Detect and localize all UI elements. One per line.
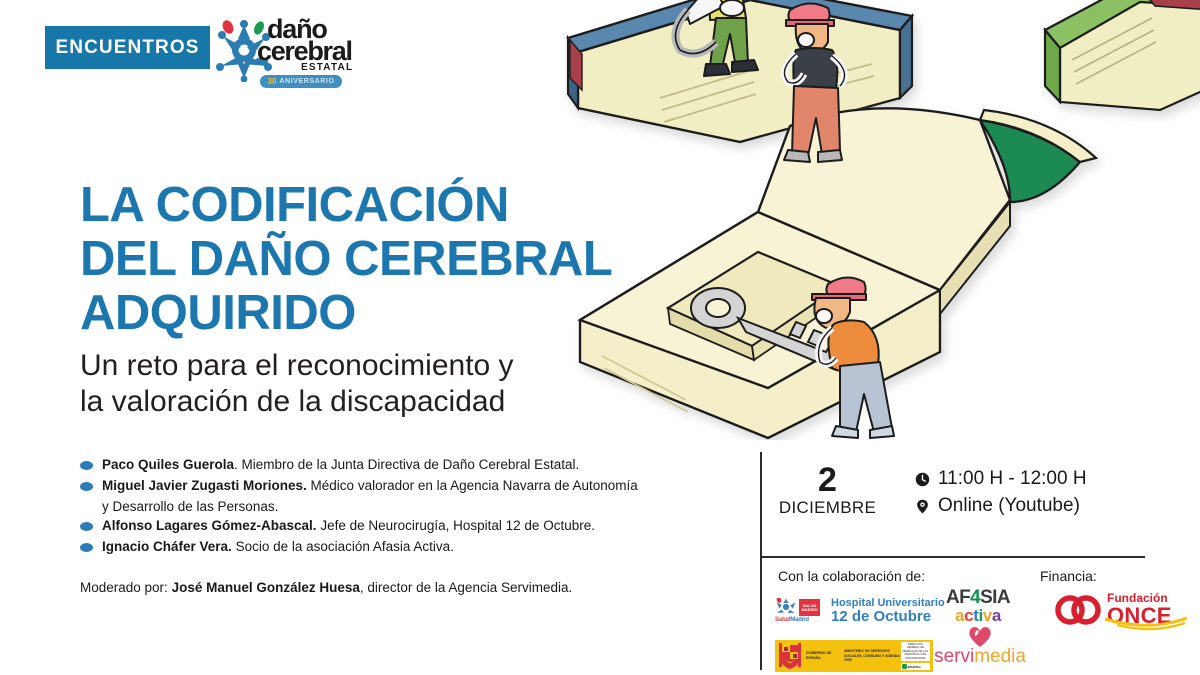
title-line-2: DEL DAÑO CEREBRAL (80, 232, 700, 286)
gobierno-right-block: DIRECCIÓN GENERAL DE DERECHOS DE LAS PER… (901, 642, 930, 670)
moderator-name: José Manuel González Huesa (172, 580, 360, 595)
logo-servimedia: servimedia (930, 625, 1030, 667)
logo-word-cerebral: cerebral (257, 38, 352, 65)
afasia-part-a: AF (946, 587, 970, 608)
speaker-name: Miguel Javier Zugasti Moriones. (102, 478, 307, 493)
subtitle-line-1: Un reto para el reconocimiento y (80, 348, 700, 384)
subtitle-line-2: la valoración de la discapacidad (80, 384, 700, 420)
collaboration-label: Con la colaboración de: (778, 568, 925, 584)
afasia-wordmark: AF4SIA (938, 588, 1018, 607)
vertical-divider (760, 452, 762, 670)
once-swoosh-icon (1103, 616, 1189, 632)
servimedia-wordmark: servimedia (930, 647, 1030, 667)
bullet-icon (80, 543, 93, 552)
afasia-four: 4 (970, 587, 980, 608)
servimedia-part-b: media (974, 646, 1026, 667)
salud-madrid-wordmark: SaludMadrid (775, 617, 809, 623)
bullet-icon (80, 461, 93, 470)
moderator-suffix: , director de la Agencia Servimedia. (360, 580, 572, 595)
horizontal-divider (760, 556, 1145, 558)
logo-gobierno-espana: GOBIERNO DE ESPAÑA MINISTERIO DE DERECHO… (775, 640, 933, 672)
ribbon-number: 30 (267, 77, 276, 86)
poster-canvas: ENCUENTROS da (0, 0, 1200, 675)
bullet-icon (80, 522, 93, 531)
title-line-1: LA CODIFICACIÓN (80, 178, 700, 232)
list-item: Paco Quiles Guerola. Miembro de la Junta… (80, 455, 740, 474)
speaker-role: . Miembro de la Junta Directiva de Daño … (234, 457, 579, 472)
logo-afasia-activa: AF4SIA activa (938, 588, 1018, 625)
map-pin-icon (915, 499, 930, 514)
salud-madrid-block-text: SALUD MADRID (799, 604, 820, 612)
clock-icon (915, 472, 930, 487)
section-badge-label: ENCUENTROS (55, 37, 199, 59)
subtitle: Un reto para el reconocimiento y la valo… (80, 348, 700, 420)
salud-word: Salud (775, 617, 790, 623)
event-details: 11:00 H - 12:00 H Online (Youtube) (915, 468, 1087, 522)
event-location-row: Online (Youtube) (915, 495, 1087, 517)
salud-madrid-figure-icon (775, 598, 797, 617)
speaker-role: Médico valorador en la Agencia Navarra d… (307, 478, 638, 493)
speaker-role: Socio de la asociación Afasia Activa. (232, 539, 454, 554)
once-wordmark: Fundación ONCE (1107, 592, 1172, 627)
imserso-mark-icon (902, 664, 907, 669)
servimedia-part-a: servi (934, 646, 974, 667)
hospital-line-2: 12 de Octubre (831, 609, 945, 625)
activa-letter-6: a (992, 606, 1001, 625)
hospital-mark: SALUD MADRID SaludMadrid (775, 598, 827, 624)
activa-letter-1: a (955, 606, 964, 625)
interlocking-rings-icon (1055, 593, 1101, 627)
logo-anniversary-ribbon: 30 ANIVERSARIO (260, 75, 342, 88)
spain-coat-of-arms-icon (778, 642, 802, 670)
speaker-name: Ignacio Cháfer Vera. (102, 539, 232, 554)
direccion-general-text: DIRECCIÓN GENERAL DE DERECHOS DE LAS PER… (901, 642, 930, 661)
moderator-line: Moderado por: José Manuel González Huesa… (80, 580, 740, 595)
event-month: DICIEMBRE (765, 498, 890, 518)
event-time-row: 11:00 H - 12:00 H (915, 468, 1087, 490)
event-day: 2 (765, 462, 890, 498)
page-title: LA CODIFICACIÓN DEL DAÑO CEREBRAL ADQUIR… (80, 178, 700, 420)
ribbon-label: ANIVERSARIO (279, 78, 334, 85)
imserso-text: IMSERSO (908, 665, 921, 669)
speaker-name: Paco Quiles Guerola (102, 457, 234, 472)
event-date: 2 DICIEMBRE (765, 462, 890, 518)
hospital-wordmark: Hospital Universitario 12 de Octubre (831, 597, 945, 625)
logo-dano-cerebral-estatal: daño cerebral ESTATAL 30 ANIVERSARIO (215, 10, 345, 92)
madrid-word: Madrid (790, 617, 808, 623)
ministerio-text: MINISTERIO DE DERECHOS SOCIALES, CONSUMO… (844, 649, 901, 662)
speaker-role: Jefe de Neurocirugía, Hospital 12 de Oct… (317, 518, 595, 533)
activa-wordmark: activa (938, 607, 1018, 625)
green-book-top-right (1045, 0, 1200, 110)
list-item: Ignacio Cháfer Vera. Socio de la asociac… (80, 537, 740, 556)
speaker-role-continuation: y Desarrollo de las Personas. (80, 497, 740, 516)
logo-hospital-12-octubre: SALUD MADRID SaludMadrid Hospital Univer… (775, 597, 945, 625)
title-line-3: ADQUIRIDO (80, 286, 700, 340)
speaker-name: Alfonso Lagares Gómez-Abascal. (102, 518, 317, 533)
event-time: 11:00 H - 12:00 H (938, 468, 1087, 490)
logo-fundacion-once: Fundación ONCE (1055, 592, 1172, 627)
gobierno-text: GOBIERNO DE ESPAÑA (806, 651, 839, 660)
speakers-list: Paco Quiles Guerola. Miembro de la Junta… (80, 455, 740, 595)
logo-word-estatal: ESTATAL (301, 63, 353, 73)
salud-madrid-block: SALUD MADRID (799, 599, 820, 616)
moderator-prefix: Moderado por: (80, 580, 172, 595)
list-item: Alfonso Lagares Gómez-Abascal. Jefe de N… (80, 516, 740, 535)
activa-letter-2: c (964, 606, 973, 625)
list-item: Miguel Javier Zugasti Moriones. Médico v… (80, 476, 740, 495)
activa-letter-5: v (983, 606, 992, 625)
bullet-icon (80, 482, 93, 491)
imserso-block: IMSERSO (901, 663, 930, 670)
financing-label: Financia: (1040, 568, 1097, 584)
afasia-part-b: SIA (980, 587, 1010, 608)
event-location: Online (Youtube) (938, 495, 1080, 517)
section-badge: ENCUENTROS (45, 26, 210, 69)
